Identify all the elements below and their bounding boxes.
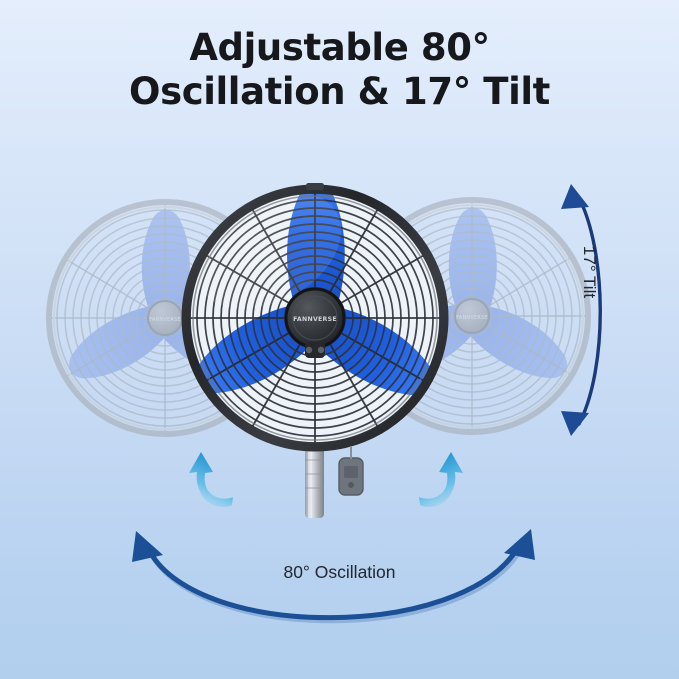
airflow-arrow-left <box>189 452 233 507</box>
main-fan: FANNVERSE <box>175 167 447 448</box>
headline-line-2: Oscillation & 17° Tilt <box>0 70 679 114</box>
ghost-brand-wordmark-right: FANNVERSE <box>456 315 488 321</box>
fan-top-tab <box>306 183 324 190</box>
headline-line-1: Adjustable 80° <box>0 26 679 70</box>
airflow-arrow-right <box>419 452 463 507</box>
brand-wordmark: FANNVERSE <box>293 316 337 323</box>
product-feature-image: FANNVERSE <box>0 0 679 679</box>
tilt-label: 17° Tilt <box>579 217 599 327</box>
oscillation-label: 80° Oscillation <box>0 562 679 583</box>
fan-control-box <box>339 446 363 495</box>
page-title: Adjustable 80° Oscillation & 17° Tilt <box>0 26 679 114</box>
fan-hub: FANNVERSE <box>286 289 344 347</box>
ghost-brand-wordmark-left: FANNVERSE <box>149 317 181 323</box>
tilt-bracket <box>305 342 325 358</box>
